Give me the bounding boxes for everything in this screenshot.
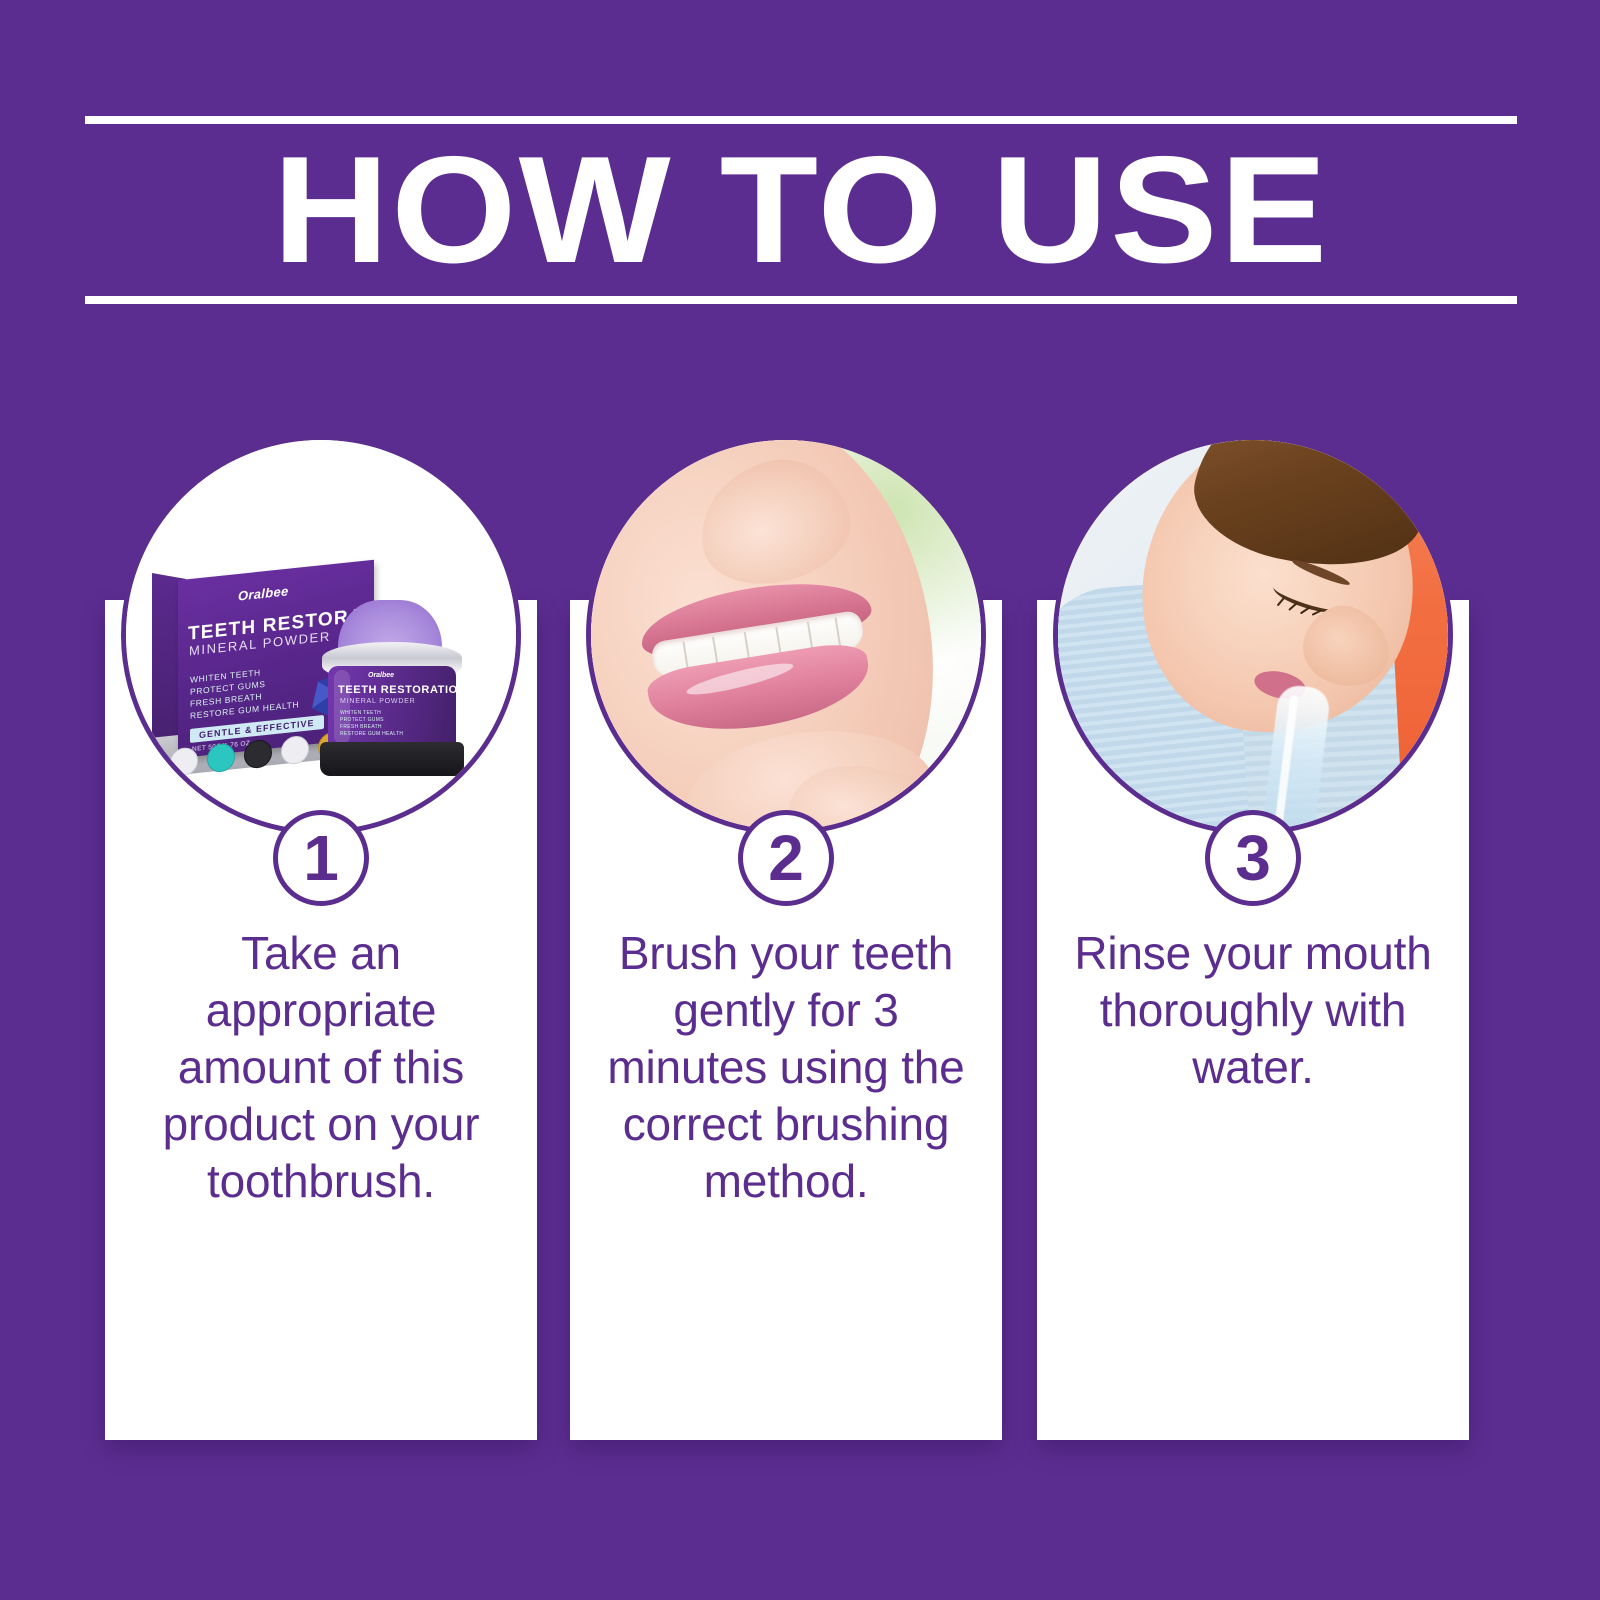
jar-bullet-3: FRESH BREATH [340,724,403,731]
product-jar: Oralbee TEETH RESTORATION MINERAL POWDER… [316,600,476,780]
step-number-badge-2: 2 [738,810,834,906]
smiling-mouth-photo [591,440,981,830]
jar-bullet-4: RESTORE GUM HEALTH [340,731,403,738]
header: HOW TO USE [85,116,1517,304]
jar-bullet-list: WHITEN TEETH PROTECT GUMS FRESH BREATH R… [340,710,403,738]
step-number-badge-3: 3 [1205,810,1301,906]
jar-subtitle-label: MINERAL POWDER [340,698,416,705]
step-caption-1: Take an appropriate amount of this produ… [135,925,507,1210]
jar-base-cap [320,742,464,776]
step-2-photo-medallion [586,435,986,835]
step-caption-3: Rinse your mouth thoroughly with water. [1067,925,1439,1096]
seal-icon-3 [244,739,272,770]
step-caption-2: Brush your teeth gently for 3 minutes us… [600,925,972,1210]
jar-title-label: TEETH RESTORATION [338,684,466,696]
jar-bullet-1: WHITEN TEETH [340,710,403,717]
seal-icon-1 [170,746,198,777]
rinsing-mouth-photo [1058,440,1448,830]
title-rule-bottom [85,296,1517,304]
seal-icon-2 [207,742,235,773]
step-number-badge-1: 1 [273,810,369,906]
seal-icon-4 [281,735,309,766]
page-title: HOW TO USE [42,124,1560,296]
title-rule-top [85,116,1517,124]
product-photo: Oralbee TEETH RESTORATION MINERAL POWDER… [126,440,516,830]
jar-brand-label: Oralbee [368,672,394,679]
step-1-photo-medallion: Oralbee TEETH RESTORATION MINERAL POWDER… [121,435,521,835]
jar-bullet-2: PROTECT GUMS [340,717,403,724]
step-3-photo-medallion [1053,435,1453,835]
infographic-page: HOW TO USE Oralbee TEETH RESTORATION MIN… [0,0,1600,1600]
